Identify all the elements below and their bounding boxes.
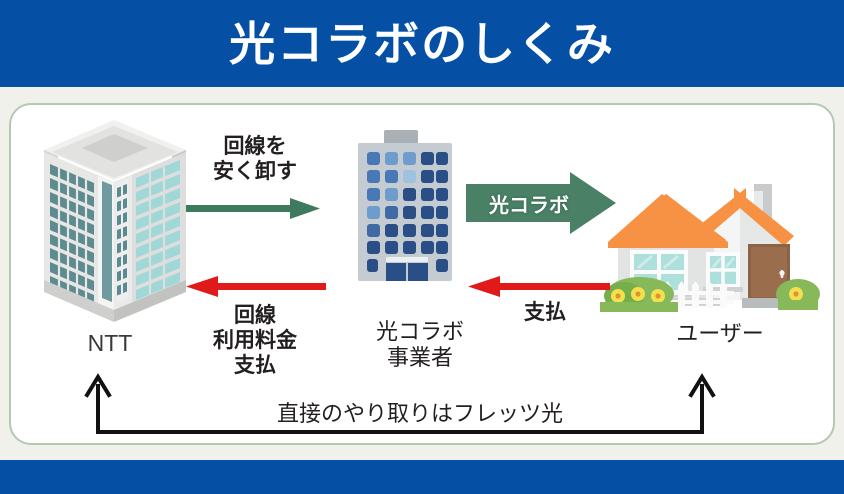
payment-arrow-icon [468,276,610,298]
hikari-collabo-arrow-label: 光コラボ [476,189,582,218]
wholesale-arrow-icon [186,196,321,222]
direct-relation-label: 直接のやり取りはフレッツ光 [160,402,680,428]
office-building-icon [340,130,470,325]
provider-label: 光コラボ 事業者 [330,320,510,372]
ntt-label: NTT [40,330,180,357]
wholesale-label: 回線を 安く卸す [180,134,330,184]
line-fee-arrow-icon [186,276,326,298]
footer-banner [0,460,844,494]
infographic-page: 光コラボのしくみ [0,0,844,494]
house-icon [600,178,812,322]
office-tower-icon [36,112,196,337]
payment-label: 支払 [490,300,600,325]
line-fee-label: 回線 利用料金 支払 [185,303,325,377]
user-label: ユーザー [620,322,820,348]
page-title: 光コラボのしくみ [229,21,615,67]
header-banner: 光コラボのしくみ [0,0,844,87]
